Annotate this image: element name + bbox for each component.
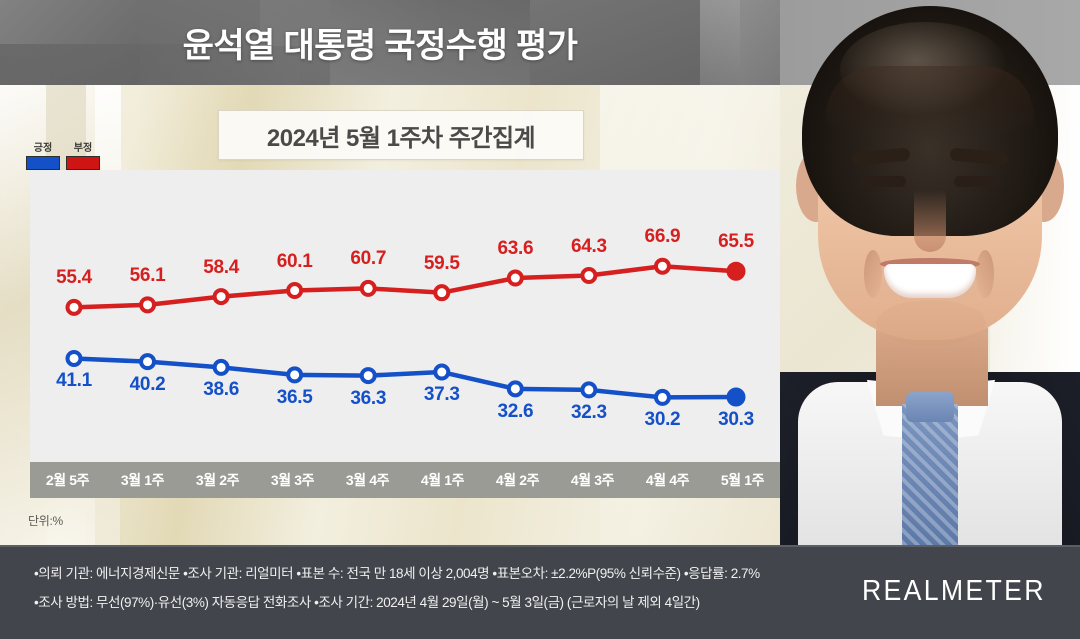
series-line-부정 <box>74 266 736 307</box>
smile-line-right <box>976 250 994 298</box>
data-label: 36.3 <box>350 388 386 410</box>
data-point <box>582 269 595 282</box>
data-label: 30.3 <box>718 409 754 431</box>
mouth <box>884 264 976 298</box>
x-axis-tick: 2월 5주 <box>30 470 105 490</box>
data-label: 55.4 <box>56 267 92 289</box>
data-label: 40.2 <box>130 374 166 396</box>
data-label: 30.2 <box>645 409 681 431</box>
data-point <box>362 369 375 382</box>
data-label: 66.9 <box>645 226 681 248</box>
data-point <box>141 355 154 368</box>
data-point <box>582 383 595 396</box>
x-axis-tick: 3월 3주 <box>255 470 330 490</box>
chart-x-axis: 2월 5주3월 1주3월 2주3월 3주3월 4주4월 1주4월 2주4월 3주… <box>30 462 780 498</box>
data-point <box>288 284 301 297</box>
forehead-shading <box>826 66 1034 136</box>
x-axis-tick: 3월 4주 <box>330 470 405 490</box>
x-axis-tick: 4월 3주 <box>555 470 630 490</box>
data-point <box>141 298 154 311</box>
data-point <box>215 290 228 303</box>
x-axis-tick: 4월 4주 <box>630 470 705 490</box>
legend-label-negative: 부정 <box>74 143 92 154</box>
chart-legend: 긍정 부정 <box>26 143 100 170</box>
page-title: 윤석열 대통령 국정수행 평가 <box>0 0 760 85</box>
data-label: 36.5 <box>277 387 313 409</box>
data-label: 56.1 <box>130 265 166 287</box>
infographic-root: 윤석열 대통령 국정수행 평가 2024년 5월 1주차 주간집계 긍정 부정 … <box>0 0 1080 639</box>
data-label: 64.3 <box>571 236 607 258</box>
data-point <box>656 260 669 273</box>
x-axis-tick: 4월 1주 <box>405 470 480 490</box>
legend-label-positive: 긍정 <box>34 143 52 154</box>
data-point <box>509 272 522 285</box>
chart-panel: 55.456.158.460.160.759.563.664.366.965.5… <box>30 170 780 462</box>
data-point <box>435 286 448 299</box>
data-point <box>509 382 522 395</box>
eye-left <box>860 176 906 187</box>
data-point <box>68 352 81 365</box>
x-axis-tick: 4월 2주 <box>480 470 555 490</box>
data-point <box>362 282 375 295</box>
necktie <box>902 404 958 545</box>
nose <box>914 190 946 252</box>
data-label: 32.3 <box>571 402 607 424</box>
legend-swatch-negative <box>66 156 100 170</box>
data-point <box>656 391 669 404</box>
data-point <box>435 366 448 379</box>
data-label: 60.1 <box>277 251 313 273</box>
necktie-knot <box>906 392 954 422</box>
data-label: 32.6 <box>497 401 533 423</box>
methodology-text: •의뢰 기관: 에너지경제신문 •조사 기관: 리얼미터 •표본 수: 전국 만… <box>34 559 834 617</box>
footer-bar: •의뢰 기관: 에너지경제신문 •조사 기관: 리얼미터 •표본 수: 전국 만… <box>0 545 1080 639</box>
smile-line-left <box>864 250 882 298</box>
x-axis-tick: 5월 1주 <box>705 470 780 490</box>
data-point <box>68 301 81 314</box>
data-label: 58.4 <box>203 257 239 279</box>
x-axis-tick: 3월 2주 <box>180 470 255 490</box>
unit-label: 단위:% <box>28 512 63 529</box>
data-label: 41.1 <box>56 370 92 392</box>
x-axis-tick: 3월 1주 <box>105 470 180 490</box>
president-portrait <box>780 0 1080 545</box>
eye-right <box>954 176 1000 187</box>
chin <box>876 300 986 346</box>
subtitle-box: 2024년 5월 1주차 주간집계 <box>218 110 584 160</box>
legend-item-positive: 긍정 <box>26 143 60 170</box>
data-label: 38.6 <box>203 379 239 401</box>
data-point <box>288 368 301 381</box>
data-label: 59.5 <box>424 253 460 275</box>
series-line-긍정 <box>74 358 736 397</box>
data-point <box>215 361 228 374</box>
footer-divider <box>0 545 1080 547</box>
methodology-line-2: •조사 방법: 무선(97%)·유선(3%) 자동응답 전화조사 •조사 기간:… <box>34 588 834 617</box>
data-label: 37.3 <box>424 384 460 406</box>
data-label: 65.5 <box>718 231 754 253</box>
data-label: 63.6 <box>497 238 533 260</box>
realmeter-logo: REALMETER <box>862 575 1046 608</box>
legend-swatch-positive <box>26 156 60 170</box>
data-point <box>728 263 745 280</box>
legend-item-negative: 부정 <box>66 143 100 170</box>
data-label: 60.7 <box>350 248 386 270</box>
data-point <box>728 389 745 406</box>
methodology-line-1: •의뢰 기관: 에너지경제신문 •조사 기관: 리얼미터 •표본 수: 전국 만… <box>34 559 834 588</box>
